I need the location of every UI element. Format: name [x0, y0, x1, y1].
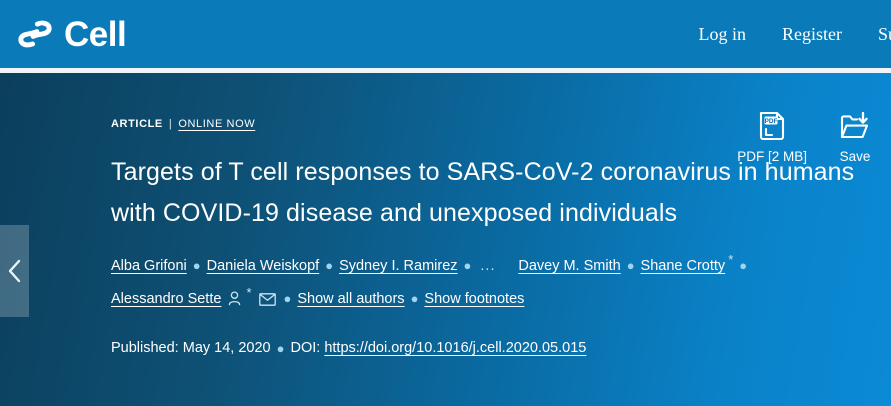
pdf-download-button[interactable]: PDF PDF [2 MB]	[737, 111, 807, 164]
kicker-type: ARTICLE	[111, 118, 163, 130]
article-actions: PDF PDF [2 MB] Save	[737, 111, 871, 164]
nav-login[interactable]: Log in	[698, 24, 746, 45]
page-root: Cell Log in Register Subs ARTICLE | ONLI…	[0, 0, 891, 406]
author-link[interactable]: Sydney I. Ramirez	[339, 258, 457, 274]
doi-link[interactable]: https://doi.org/10.1016/j.cell.2020.05.0…	[324, 340, 586, 356]
nav-subscribe[interactable]: Subs	[878, 24, 891, 45]
sidebar-collapse-toggle[interactable]	[0, 225, 29, 317]
author-link[interactable]: Shane Crotty	[641, 258, 726, 274]
kicker-status-online-now[interactable]: ONLINE NOW	[178, 118, 255, 130]
author-separator-dot: ●	[464, 253, 472, 278]
author-link-last[interactable]: Alessandro Sette	[111, 291, 221, 307]
save-button[interactable]: Save	[839, 111, 871, 164]
cell-brand-logo[interactable]: Cell	[16, 15, 126, 53]
author-link[interactable]: Davey M. Smith	[518, 258, 620, 274]
footnote-marker-last[interactable]: *	[246, 285, 251, 300]
header-nav: Log in Register Subs	[698, 0, 891, 68]
author-separator-dot: ●	[739, 253, 747, 278]
article-hero: ARTICLE | ONLINE NOW Targets of T cell r…	[0, 73, 891, 406]
published-label: Published:	[111, 340, 179, 356]
author-list: Alba Grifoni●Daniela Weiskopf●Sydney I. …	[111, 247, 831, 316]
show-all-authors-link[interactable]: Show all authors	[297, 291, 404, 307]
cell-logo-interlock-icon	[16, 15, 54, 53]
author-link[interactable]: Alba Grifoni	[111, 258, 187, 274]
svg-text:PDF: PDF	[765, 118, 778, 125]
page-title: Targets of T cell responses to SARS-CoV-…	[111, 152, 856, 233]
author-separator-dot: ●	[627, 253, 635, 278]
show-footnotes-link[interactable]: Show footnotes	[424, 291, 524, 307]
footnote-marker[interactable]: *	[728, 252, 733, 267]
save-folder-download-icon	[839, 111, 871, 145]
pdf-download-label: PDF [2 MB]	[737, 149, 807, 164]
doi-label: DOI:	[290, 340, 320, 356]
author-separator-dot: ●	[325, 253, 333, 278]
author-link[interactable]: Daniela Weiskopf	[207, 258, 320, 274]
email-icon[interactable]	[259, 288, 276, 316]
author-separator-dot: ●	[193, 253, 201, 278]
authors-ellipsis: ...	[480, 258, 495, 274]
chevron-left-icon	[7, 258, 23, 284]
site-header: Cell Log in Register Subs	[0, 0, 891, 68]
author-profile-icon[interactable]	[228, 288, 241, 316]
meta-separator-dot: ●	[277, 341, 285, 356]
pdf-file-icon: PDF	[757, 111, 787, 145]
published-date: May 14, 2020	[183, 340, 271, 356]
author-separator-dot: ●	[284, 286, 292, 311]
kicker-separator: |	[169, 118, 172, 130]
brand-wordmark: Cell	[64, 17, 126, 52]
save-label: Save	[840, 149, 871, 164]
nav-register[interactable]: Register	[782, 24, 842, 45]
author-separator-dot: ●	[411, 286, 419, 311]
publication-meta: Published: May 14, 2020●DOI: https://doi…	[111, 340, 871, 356]
